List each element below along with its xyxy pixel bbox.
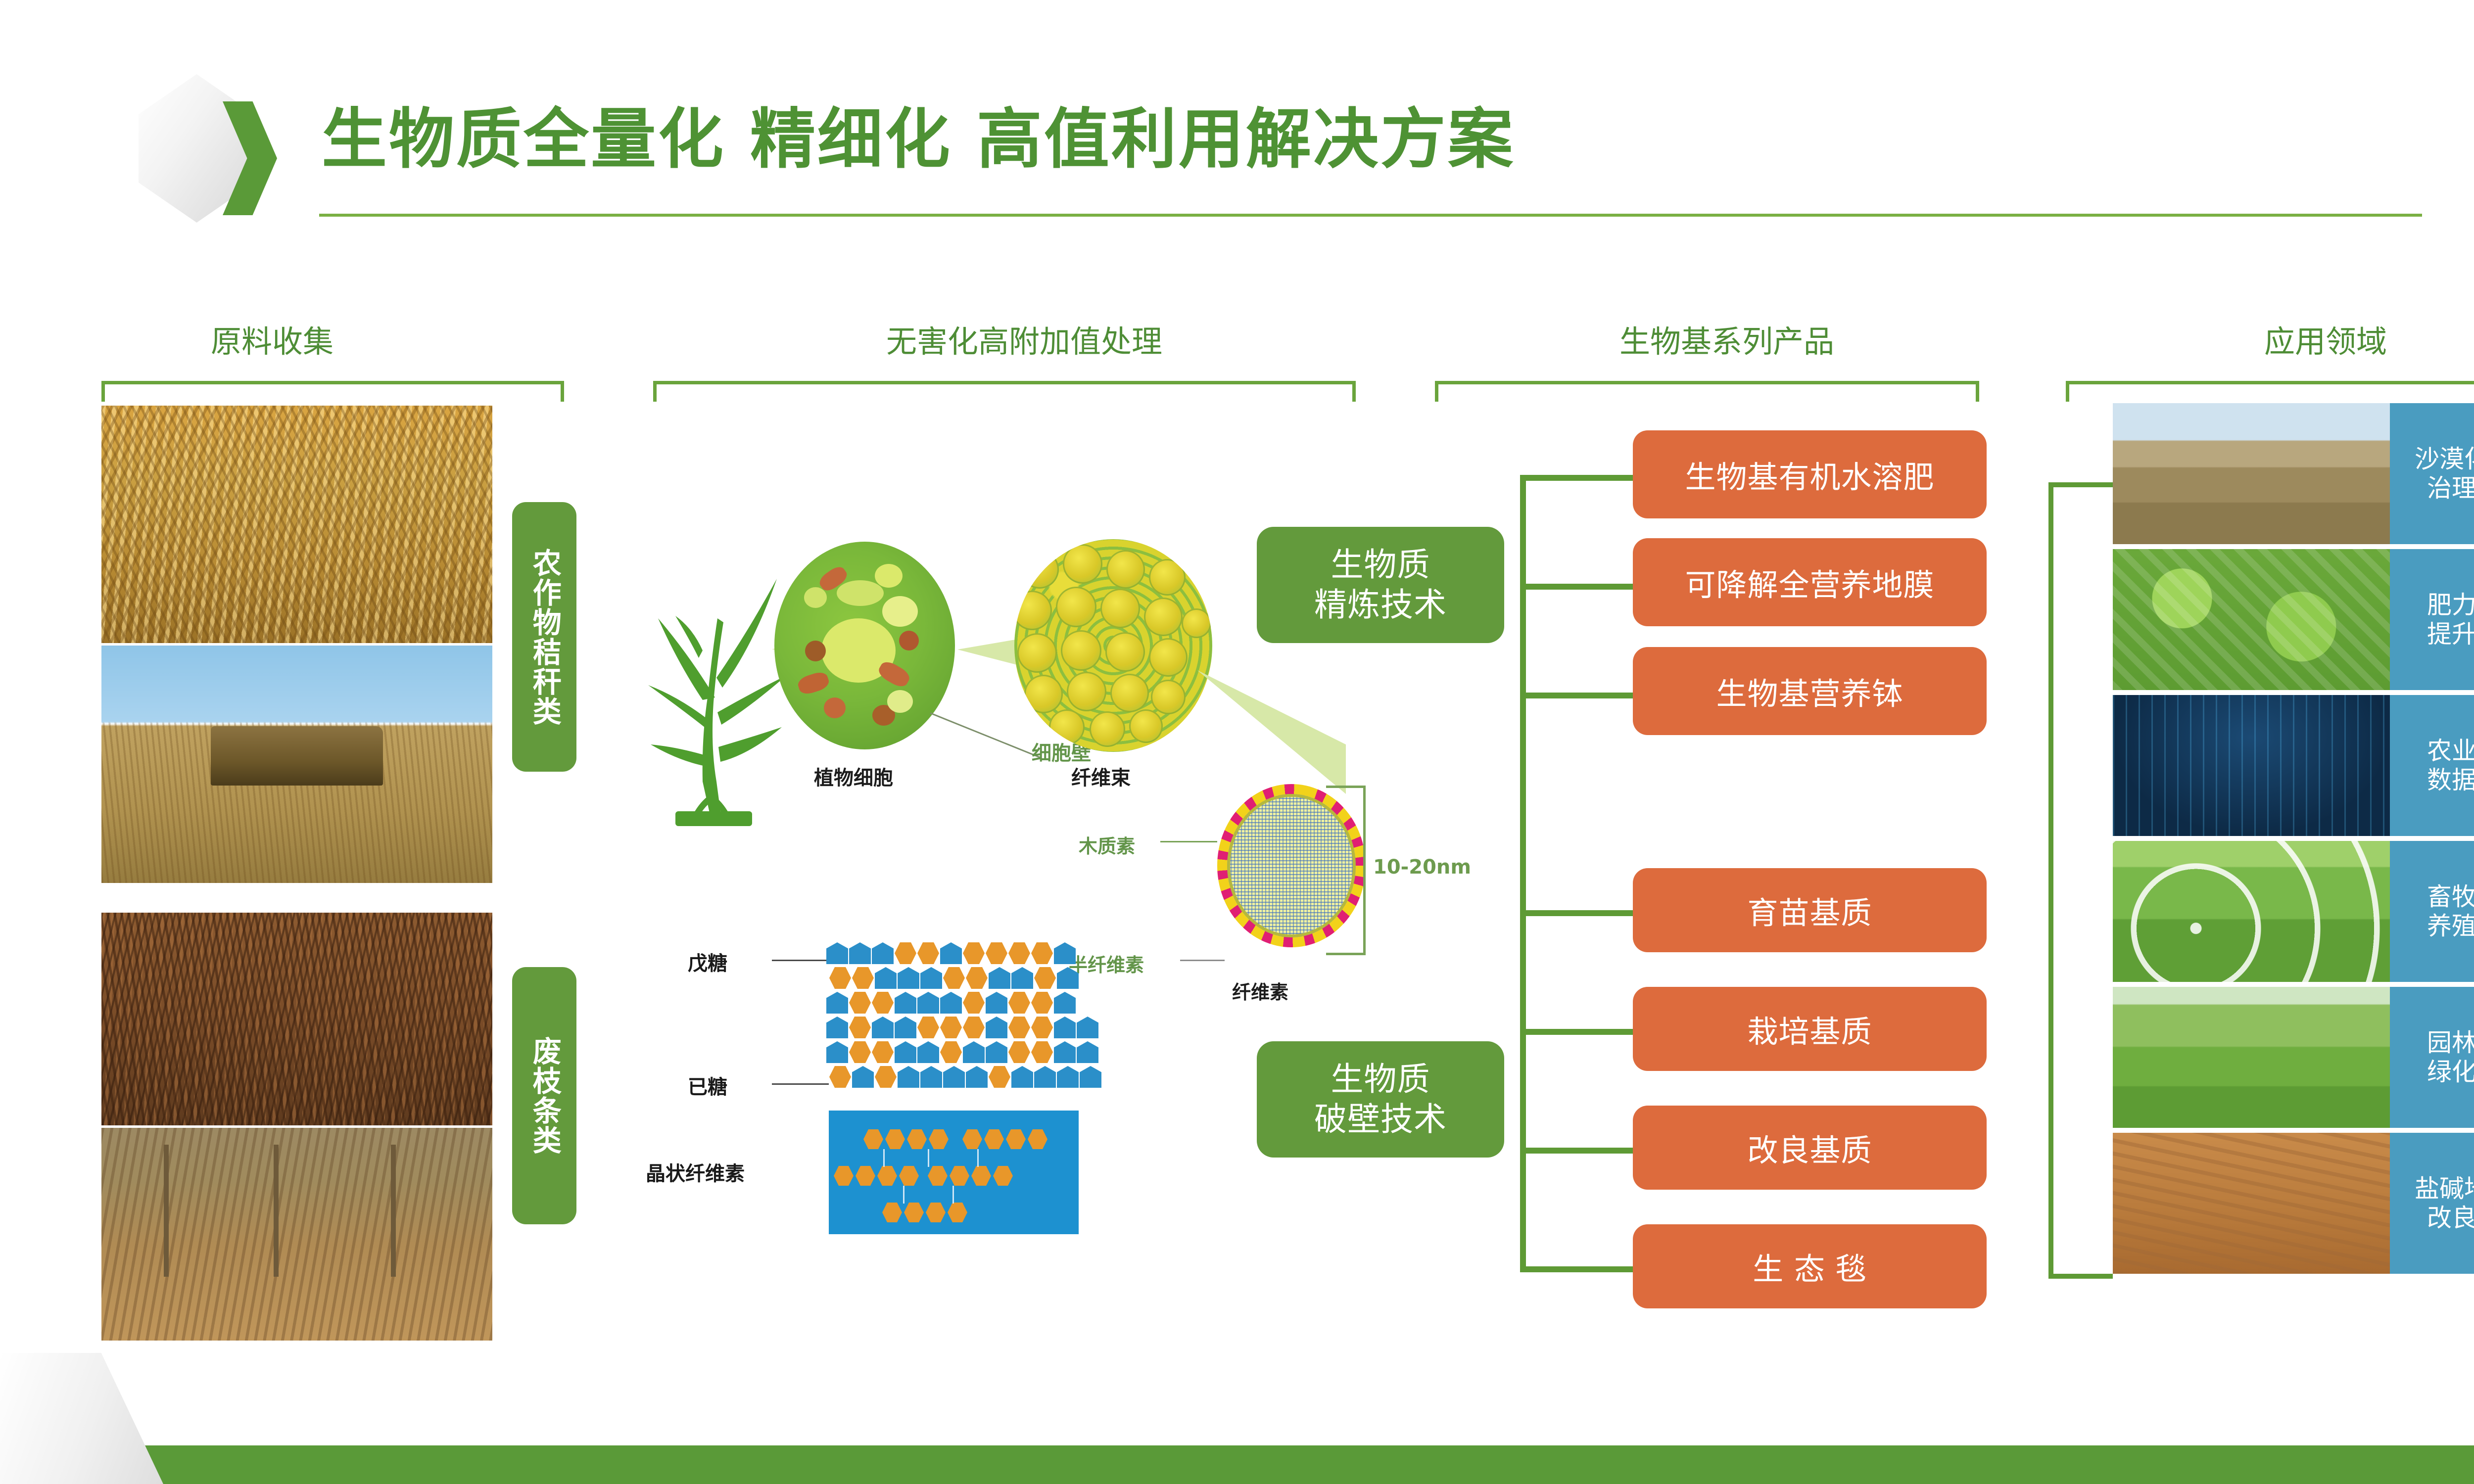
connector-branch-product-5 xyxy=(1520,1029,1639,1035)
tech-box-biomass-refining[interactable]: 生物质 精炼技术 xyxy=(1257,527,1504,643)
app-tag-1-line1: 沙漠化 xyxy=(2415,445,2474,473)
application-tag-landscaping: 园林 绿化 xyxy=(2390,987,2474,1128)
product-pill-4[interactable]: 育苗基质 xyxy=(1633,868,1987,952)
app-tag-2-line1: 肥力 xyxy=(2427,591,2474,619)
label-nano-size: 10-20nm xyxy=(1373,856,1471,879)
connector-branch-product-1 xyxy=(1520,475,1639,481)
label-lignin: 木质素 xyxy=(1079,831,1135,858)
photo-straw-bale-field xyxy=(101,646,492,883)
label-crystalline-cellulose: 晶状纤维素 xyxy=(646,1158,745,1186)
dimension-tick-top xyxy=(1326,786,1366,788)
application-row-saline-alkali[interactable]: 盐碱地 改良 xyxy=(2113,1133,2474,1274)
bracket-harmless-processing xyxy=(653,381,1356,402)
connector-branch-product-4 xyxy=(1520,910,1639,916)
tech-box-breaking-line2: 破壁技术 xyxy=(1314,1100,1447,1138)
app-tag-5-line1: 园林 xyxy=(2427,1028,2474,1057)
section-header-raw-material-collection: 原料收集 xyxy=(99,317,445,361)
product-pill-3[interactable]: 生物基营养钵 xyxy=(1633,647,1987,735)
connector-branch-product-6 xyxy=(1520,1148,1639,1154)
app-tag-2-line2: 提升 xyxy=(2427,620,2474,649)
product-pill-7[interactable]: 生 态 毯 xyxy=(1633,1224,1987,1308)
dimension-tick-bottom xyxy=(1326,953,1366,955)
section-header-biobased-products: 生物基系列产品 xyxy=(1420,317,2034,361)
photo-cabbage-field xyxy=(2113,549,2390,690)
section-header-harmless-processing: 无害化高附加值处理 xyxy=(673,317,1376,361)
title-underline-rule xyxy=(319,214,2422,217)
app-tag-3-line1: 农业 xyxy=(2427,737,2474,765)
category-label-crop-straw: 农作物秸秆类 xyxy=(512,502,576,772)
tech-box-refining-line2: 精炼技术 xyxy=(1314,586,1447,624)
product-pill-1[interactable]: 生物基有机水溶肥 xyxy=(1633,430,1987,518)
application-tag-saline-alkali: 盐碱地 改良 xyxy=(2390,1133,2474,1274)
application-tag-livestock: 畜牧 养殖 xyxy=(2390,841,2474,982)
app-tag-1-line2: 治理 xyxy=(2427,474,2474,503)
bracket-applications-group xyxy=(2048,482,2113,1279)
dimension-line-vertical xyxy=(1363,787,1366,955)
leader-line-pentose xyxy=(772,960,826,961)
photo-agriculture-data-screen xyxy=(2113,695,2390,836)
label-hexose: 已糖 xyxy=(688,1071,727,1100)
zoom-beam-fiber-to-nano xyxy=(1197,670,1346,794)
application-row-desertification[interactable]: 沙漠化 治理 xyxy=(2113,403,2474,544)
hexagon-chevron-logo xyxy=(139,74,287,223)
label-pentose: 戊糖 xyxy=(688,947,727,976)
photo-corn-straw-field xyxy=(101,406,492,643)
app-tag-4-line2: 养殖 xyxy=(2427,912,2474,940)
photo-desert-control xyxy=(2113,403,2390,544)
app-tag-5-line2: 绿化 xyxy=(2427,1058,2474,1086)
label-fiber-bundle: 纤维束 xyxy=(1071,762,1131,790)
bracket-application-fields xyxy=(2066,381,2474,402)
photo-vineyard-pruning xyxy=(101,1128,492,1341)
bracket-raw-material-collection xyxy=(101,381,564,402)
tech-box-cell-wall-breaking[interactable]: 生物质 破壁技术 xyxy=(1257,1041,1504,1158)
leader-line-hexose xyxy=(772,1083,829,1085)
app-tag-6-line2: 改良 xyxy=(2427,1204,2474,1232)
connector-branch-product-2 xyxy=(1520,584,1639,590)
product-pill-5[interactable]: 栽培基质 xyxy=(1633,987,1987,1071)
connector-branch-product-3 xyxy=(1520,693,1639,698)
crystalline-cellulose-illustration xyxy=(829,1111,1079,1234)
photo-dry-branches xyxy=(101,913,492,1125)
photo-landscape-greening xyxy=(2113,987,2390,1128)
application-row-landscaping[interactable]: 园林 绿化 xyxy=(2113,987,2474,1128)
application-row-fertility[interactable]: 肥力 提升 xyxy=(2113,549,2474,690)
photo-grazing-sheep xyxy=(2113,841,2390,982)
product-pill-6[interactable]: 改良基质 xyxy=(1633,1106,1987,1190)
cellulose-nanofiber-illustration xyxy=(1217,784,1366,947)
leader-line-lignin xyxy=(1160,841,1217,842)
grass-plant-icon xyxy=(628,549,797,826)
connector-branch-product-7 xyxy=(1520,1266,1639,1272)
tech-box-breaking-line1: 生物质 xyxy=(1331,1060,1430,1098)
app-tag-6-line1: 盐碱地 xyxy=(2415,1174,2474,1203)
app-tag-3-line2: 数据 xyxy=(2427,766,2474,794)
label-cellulose: 纤维素 xyxy=(1232,977,1288,1004)
leader-line-hemicellulose xyxy=(1180,960,1225,961)
application-tag-desertification: 沙漠化 治理 xyxy=(2390,403,2474,544)
plant-cell-illustration xyxy=(774,542,955,749)
bracket-biobased-products xyxy=(1435,381,1979,402)
footer-white-wedge xyxy=(0,1353,163,1484)
fiber-bundle-illustration xyxy=(1014,539,1212,752)
slide-canvas: 生物质全量化 精细化 高值利用解决方案 原料收集 无害化高附加值处理 生物基系列… xyxy=(0,0,2474,1484)
footer-green-bar xyxy=(0,1445,2474,1484)
section-header-application-fields: 应用领域 xyxy=(2078,317,2474,361)
photo-saline-alkali-land xyxy=(2113,1133,2390,1274)
application-tag-agri-data: 农业 数据 xyxy=(2390,695,2474,836)
page-title: 生物质全量化 精细化 高值利用解决方案 xyxy=(322,87,1515,181)
category-label-waste-branches: 废枝条类 xyxy=(512,967,576,1224)
application-row-agri-data[interactable]: 农业 数据 xyxy=(2113,695,2474,836)
label-plant-cell: 植物细胞 xyxy=(814,762,893,790)
application-row-livestock[interactable]: 畜牧 养殖 xyxy=(2113,841,2474,982)
sugar-chain-illustration xyxy=(826,942,1183,1096)
application-tag-fertility: 肥力 提升 xyxy=(2390,549,2474,690)
tech-box-refining-line1: 生物质 xyxy=(1331,546,1430,584)
app-tag-4-line1: 畜牧 xyxy=(2427,882,2474,911)
product-pill-2[interactable]: 可降解全营养地膜 xyxy=(1633,538,1987,626)
